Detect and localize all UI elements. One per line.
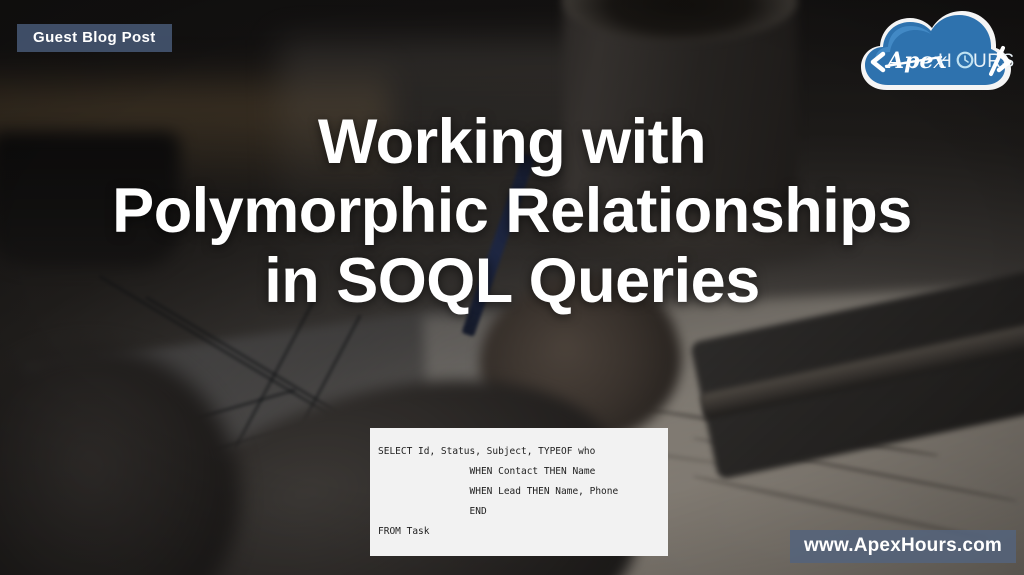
title-line-3: in SOQL Queries xyxy=(0,247,1024,316)
website-url-banner[interactable]: www.ApexHours.com xyxy=(790,530,1016,563)
soql-code-text: SELECT Id, Status, Subject, TYPEOF who W… xyxy=(378,442,668,542)
title-block: Working with Polymorphic Relationships i… xyxy=(0,108,1024,316)
soql-code-block: SELECT Id, Status, Subject, TYPEOF who W… xyxy=(370,428,668,556)
logo-wordmark: Apex H URS xyxy=(873,48,1015,74)
apex-hours-logo[interactable]: Apex H URS xyxy=(853,2,1018,106)
svg-text:H: H xyxy=(938,51,952,72)
title-line-1: Working with xyxy=(0,108,1024,177)
blog-banner-image: Guest Blog Post Apex H URS xyxy=(0,0,1024,575)
guest-blog-post-badge: Guest Blog Post xyxy=(17,24,172,52)
title-line-2: Polymorphic Relationships xyxy=(0,177,1024,246)
